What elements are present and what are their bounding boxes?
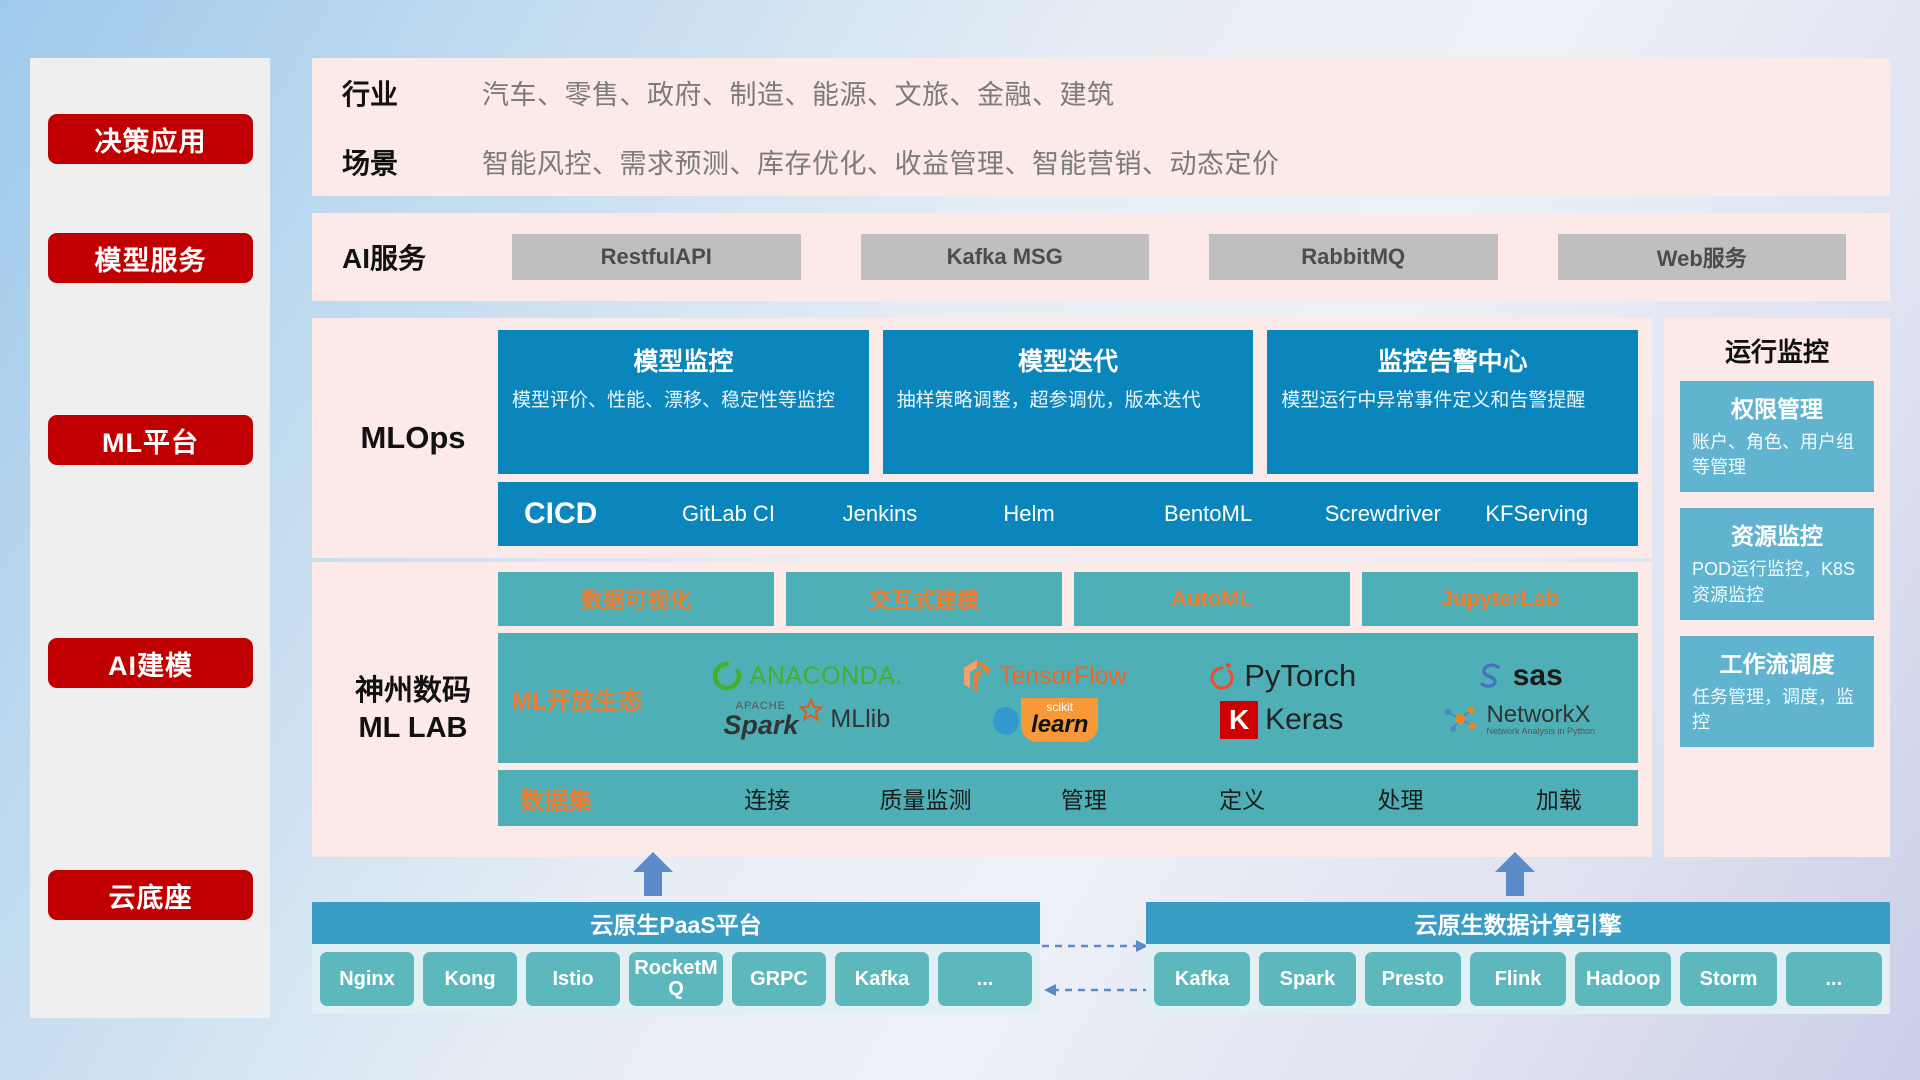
cloud-paas-chip-list: Nginx Kong Istio RocketMQ GRPC Kafka ...: [312, 944, 1040, 1014]
bidirectional-dashed-arrows-icon: [1040, 932, 1152, 1004]
mlops-card-list: 模型监控 模型评价、性能、漂移、稳定性等监控 模型迭代 抽样策略调整，超参调优，…: [498, 330, 1638, 474]
dataset-item-processing[interactable]: 处理: [1321, 781, 1479, 815]
tensorflow-logo-text: TensorFlow: [999, 662, 1127, 691]
rail-label: 决策应用: [95, 120, 207, 159]
rail-item-ml-platform[interactable]: ML平台: [48, 415, 253, 465]
scikit-learn-wordmark: scikit learn: [1021, 698, 1098, 742]
cloud-chip-kafka[interactable]: Kafka: [835, 952, 929, 1006]
up-arrow-icon-data-engine: [1492, 850, 1538, 896]
data-chip-more[interactable]: ...: [1786, 952, 1882, 1006]
card-desc: 模型运行中异常事件定义和告警提醒: [1281, 388, 1624, 415]
runtime-monitoring-title: 运行监控: [1664, 318, 1890, 381]
dataset-item-loading[interactable]: 加载: [1480, 781, 1638, 815]
cicd-item-list: GitLab CI Jenkins Helm BentoML Screwdriv…: [674, 502, 1638, 525]
scenario-row: 场景 智能风控、需求预测、库存优化、收益管理、智能营销、动态定价: [312, 127, 1890, 196]
anaconda-logo[interactable]: ANACONDA.: [688, 660, 926, 692]
keras-logo-text: Keras: [1265, 703, 1343, 737]
card-desc: POD运行监控，K8S资源监控: [1692, 557, 1862, 607]
cicd-item-gitlab-ci[interactable]: GitLab CI: [674, 502, 835, 525]
cicd-item-helm[interactable]: Helm: [995, 502, 1156, 525]
runtime-monitoring-panel: 运行监控 权限管理 账户、角色、用户组等管理 资源监控 POD运行监控，K8S资…: [1664, 318, 1890, 857]
card-desc: 账户、角色、用户组等管理: [1692, 430, 1862, 480]
mlops-card-alert-center[interactable]: 监控告警中心 模型运行中异常事件定义和告警提醒: [1267, 330, 1638, 474]
cloud-paas-title: 云原生PaaS平台: [312, 902, 1040, 944]
anaconda-logo-text: ANACONDA.: [750, 662, 903, 691]
cloud-chip-grpc[interactable]: GRPC: [732, 952, 826, 1006]
ml-lab-key-line1: 神州数码: [355, 673, 471, 709]
spark-wordmark: APACHE Spark: [723, 701, 798, 739]
ml-ecosystem-logo-grid: ANACONDA. TensorFlow: [688, 654, 1638, 741]
sas-icon: [1476, 660, 1506, 692]
rail-item-ai-modeling[interactable]: AI建模: [48, 638, 253, 688]
ai-service-chip-rabbitmq[interactable]: RabbitMQ: [1209, 234, 1498, 280]
keras-mark-icon: K: [1220, 701, 1258, 739]
sas-logo[interactable]: sas: [1401, 659, 1639, 693]
rail-item-model-service[interactable]: 模型服务: [48, 233, 253, 283]
dataset-item-management[interactable]: 管理: [1005, 781, 1163, 815]
learn-text: learn: [1031, 714, 1088, 736]
data-chip-flink[interactable]: Flink: [1470, 952, 1566, 1006]
cloud-chip-istio[interactable]: Istio: [526, 952, 620, 1006]
card-title: 模型迭代: [897, 342, 1240, 378]
tensorflow-logo[interactable]: TensorFlow: [926, 659, 1164, 693]
cloud-paas-block: 云原生PaaS平台 Nginx Kong Istio RocketMQ GRPC…: [312, 902, 1040, 1020]
dataset-label: 数据集: [498, 781, 688, 816]
data-chip-storm[interactable]: Storm: [1680, 952, 1776, 1006]
scikit-blob-icon: [990, 703, 1024, 737]
cloud-data-engine-block: 云原生数据计算引擎 Kafka Spark Presto Flink Hadoo…: [1146, 902, 1890, 1020]
spark-text: Spark: [723, 712, 798, 739]
data-chip-spark[interactable]: Spark: [1259, 952, 1355, 1006]
rail-label: AI建模: [108, 644, 193, 683]
pytorch-logo[interactable]: PyTorch: [1163, 658, 1401, 694]
industry-key: 行业: [342, 73, 482, 113]
networkx-wordmark: NetworkX Network Analysis in Python: [1486, 703, 1595, 736]
rail-label: ML平台: [102, 421, 199, 460]
monitoring-card-permissions[interactable]: 权限管理 账户、角色、用户组等管理: [1680, 381, 1874, 492]
cloud-data-engine-title: 云原生数据计算引擎: [1146, 902, 1890, 944]
industry-row: 行业 汽车、零售、政府、制造、能源、文旅、金融、建筑: [312, 58, 1890, 127]
mlops-card-model-monitoring[interactable]: 模型监控 模型评价、性能、漂移、稳定性等监控: [498, 330, 869, 474]
ml-lab-panel: 神州数码 ML LAB 数据可视化 交互式建模 AutoML JupyterLa…: [312, 562, 1652, 857]
ai-service-chip-kafka-msg[interactable]: Kafka MSG: [861, 234, 1150, 280]
ai-service-panel: AI服务 RestfulAPI Kafka MSG RabbitMQ Web服务: [312, 213, 1890, 301]
rail-label: 模型服务: [95, 239, 207, 278]
networkx-logo-text: NetworkX: [1486, 703, 1595, 727]
lab-tool-interactive-modeling[interactable]: 交互式建模: [786, 572, 1062, 626]
ai-service-chip-web-service[interactable]: Web服务: [1558, 234, 1847, 280]
card-desc: 模型评价、性能、漂移、稳定性等监控: [512, 388, 855, 415]
ai-service-chip-restfulapi[interactable]: RestfulAPI: [512, 234, 801, 280]
scenario-key: 场景: [342, 142, 482, 182]
cicd-title: CICD: [524, 497, 674, 531]
lab-tool-automl[interactable]: AutoML: [1074, 572, 1350, 626]
card-title: 权限管理: [1692, 390, 1862, 424]
cicd-item-kfserving[interactable]: KFServing: [1477, 502, 1638, 525]
dataset-item-definition[interactable]: 定义: [1163, 781, 1321, 815]
industry-value: 汽车、零售、政府、制造、能源、文旅、金融、建筑: [482, 73, 1115, 112]
dataset-item-connect[interactable]: 连接: [688, 781, 846, 815]
lab-tool-data-visualization[interactable]: 数据可视化: [498, 572, 774, 626]
ai-service-chip-list: RestfulAPI Kafka MSG RabbitMQ Web服务: [482, 234, 1890, 280]
rail-item-decision-apps[interactable]: 决策应用: [48, 114, 253, 164]
up-arrow-icon-paas: [630, 850, 676, 896]
spark-mllib-logo[interactable]: APACHE Spark MLlib: [688, 701, 926, 739]
cicd-bar: CICD GitLab CI Jenkins Helm BentoML Scre…: [498, 482, 1638, 546]
lab-tool-list: 数据可视化 交互式建模 AutoML JupyterLab: [498, 572, 1638, 626]
networkx-graph-icon: [1443, 704, 1479, 736]
card-title: 资源监控: [1692, 517, 1862, 551]
ai-service-key: AI服务: [342, 237, 482, 277]
ml-lab-key: 神州数码 ML LAB: [328, 572, 498, 847]
card-desc: 抽样策略调整，超参调优，版本迭代: [897, 388, 1240, 415]
networkx-logo[interactable]: NetworkX Network Analysis in Python: [1401, 703, 1639, 736]
dataset-item-list: 连接 质量监测 管理 定义 处理 加载: [688, 781, 1638, 815]
data-chip-kafka[interactable]: Kafka: [1154, 952, 1250, 1006]
card-title: 模型监控: [512, 342, 855, 378]
pytorch-logo-text: PyTorch: [1244, 658, 1356, 694]
keras-logo[interactable]: K Keras: [1163, 701, 1401, 739]
ml-ecosystem-label: ML开放生态: [498, 681, 688, 716]
card-title: 工作流调度: [1692, 645, 1862, 679]
sas-logo-text: sas: [1513, 659, 1563, 693]
cloud-chip-more[interactable]: ...: [938, 952, 1032, 1006]
scenario-value: 智能风控、需求预测、库存优化、收益管理、智能营销、动态定价: [482, 142, 1280, 181]
card-desc: 任务管理，调度，监控: [1692, 685, 1862, 735]
tensorflow-icon: [962, 659, 992, 693]
rail-label: 云底座: [109, 876, 193, 915]
spark-star-icon: [799, 699, 823, 723]
mlops-panel: MLOps 模型监控 模型评价、性能、漂移、稳定性等监控 模型迭代 抽样策略调整…: [312, 318, 1652, 558]
cloud-data-engine-chip-list: Kafka Spark Presto Flink Hadoop Storm ..…: [1146, 944, 1890, 1014]
cicd-item-screwdriver[interactable]: Screwdriver: [1317, 502, 1478, 525]
cloud-chip-nginx[interactable]: Nginx: [320, 952, 414, 1006]
card-title: 监控告警中心: [1281, 342, 1624, 378]
monitoring-card-resources[interactable]: 资源监控 POD运行监控，K8S资源监控: [1680, 508, 1874, 619]
decision-apps-panel: 行业 汽车、零售、政府、制造、能源、文旅、金融、建筑 场景 智能风控、需求预测、…: [312, 58, 1890, 196]
mlops-card-model-iteration[interactable]: 模型迭代 抽样策略调整，超参调优，版本迭代: [883, 330, 1254, 474]
scikit-learn-logo[interactable]: scikit learn: [926, 698, 1164, 742]
ml-lab-key-line2: ML LAB: [358, 710, 467, 746]
rail-item-cloud-foundation[interactable]: 云底座: [48, 870, 253, 920]
monitoring-card-workflow[interactable]: 工作流调度 任务管理，调度，监控: [1680, 636, 1874, 747]
ml-ecosystem-row: ML开放生态 ANACONDA.: [498, 633, 1638, 763]
mlops-key: MLOps: [328, 330, 498, 546]
anaconda-icon: [711, 660, 743, 692]
lab-tool-jupyterlab[interactable]: JupyterLab: [1362, 572, 1638, 626]
dataset-item-quality-monitoring[interactable]: 质量监测: [846, 781, 1004, 815]
dataset-row: 数据集 连接 质量监测 管理 定义 处理 加载: [498, 770, 1638, 826]
pytorch-icon: [1207, 660, 1237, 692]
cicd-item-bentoml[interactable]: BentoML: [1156, 502, 1317, 525]
left-rail: 决策应用 模型服务 ML平台 AI建模 云底座: [30, 58, 270, 1018]
data-chip-presto[interactable]: Presto: [1365, 952, 1461, 1006]
cloud-chip-rocketmq[interactable]: RocketMQ: [629, 952, 723, 1006]
mllib-logo-text: MLlib: [830, 705, 890, 734]
cloud-chip-kong[interactable]: Kong: [423, 952, 517, 1006]
data-chip-hadoop[interactable]: Hadoop: [1575, 952, 1671, 1006]
cicd-item-jenkins[interactable]: Jenkins: [835, 502, 996, 525]
networkx-tagline: Network Analysis in Python: [1486, 727, 1595, 736]
